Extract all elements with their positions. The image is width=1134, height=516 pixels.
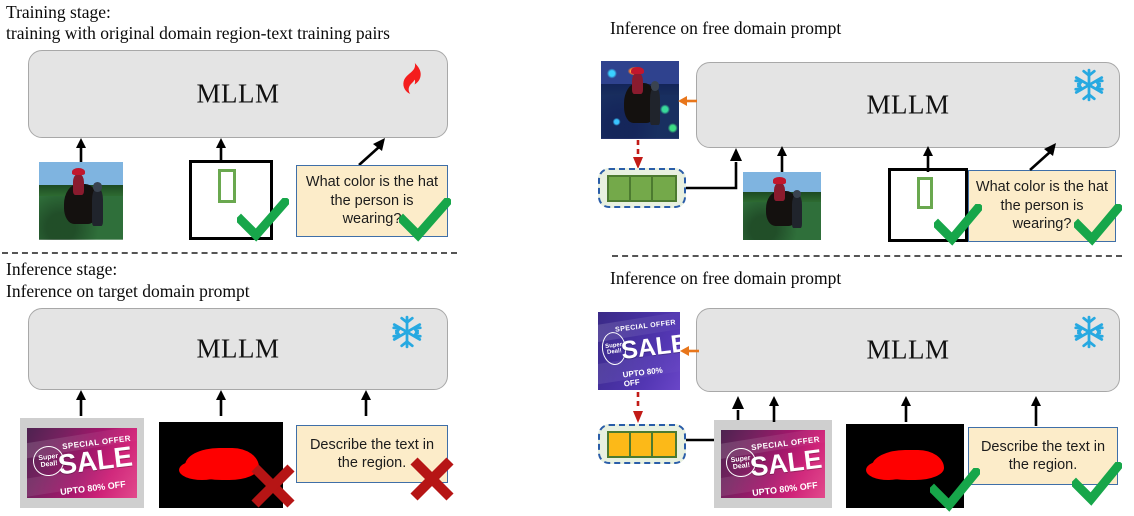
check-icon-prompt-training xyxy=(399,198,451,242)
region-highlight-rect xyxy=(917,177,933,209)
sale-poster-art-free: Super Deal! SPECIAL OFFER SALE UPTO 80% … xyxy=(721,430,825,499)
sale-headline-dark: SALE xyxy=(620,333,680,361)
free-domain-bottom-caption: Inference on free domain prompt xyxy=(610,268,841,289)
mllm-box-inference: MLLM xyxy=(28,308,448,390)
token-cell xyxy=(609,177,631,200)
arrow-image-to-model-free-bottom xyxy=(766,396,782,422)
flame-icon xyxy=(395,60,425,96)
mllm-label-free-bottom: MLLM xyxy=(697,335,1119,366)
sale-headline-free: SALE xyxy=(749,447,823,478)
check-icon-prompt-free-bottom xyxy=(1072,462,1122,508)
cross-icon-region-inference xyxy=(249,462,297,510)
arrow-model-to-heatmap xyxy=(676,94,698,108)
arrow-image-to-model-inference xyxy=(73,390,89,416)
training-caption-line2: training with original domain region-tex… xyxy=(6,23,390,44)
mllm-label-training: MLLM xyxy=(29,79,447,110)
divider-right xyxy=(612,255,1122,257)
region-highlight-rect xyxy=(218,169,236,203)
check-icon-region-training xyxy=(237,198,289,242)
arrow-region-to-model-free-bottom xyxy=(898,396,914,422)
arrow-prompt-to-model-free-top xyxy=(1026,143,1062,171)
snowflake-icon-inference xyxy=(390,315,424,349)
inference-caption-line1: Inference stage: xyxy=(6,259,117,280)
arrow-prompt-to-model-free-bottom xyxy=(1028,396,1044,426)
snowflake-icon-free-bottom xyxy=(1072,315,1106,349)
inference-caption-line2: Inference on target domain prompt xyxy=(6,281,250,302)
token-strip-green xyxy=(607,175,677,202)
handler-figure xyxy=(92,190,103,226)
input-image-sale-poster: Super Deal! SPECIAL OFFER SALE UPTO 80% … xyxy=(20,418,144,508)
arrow-heatmap-to-tokens xyxy=(631,140,645,170)
input-image-horse-training xyxy=(39,162,123,240)
training-caption-line1: Training stage: xyxy=(6,2,111,23)
token-cell xyxy=(653,433,675,456)
token-cell xyxy=(653,177,675,200)
snowflake-icon-free-top xyxy=(1072,68,1106,102)
arrow-region-to-model-inference xyxy=(213,390,229,416)
mllm-box-free-top: MLLM xyxy=(696,62,1120,148)
free-domain-top-caption: Inference on free domain prompt xyxy=(610,18,841,39)
input-image-horse-free-top xyxy=(743,172,821,240)
mllm-box-training: MLLM xyxy=(28,50,448,138)
mllm-box-free-bottom: MLLM xyxy=(696,308,1120,392)
token-cell xyxy=(609,433,631,456)
red-mask-blob-tail xyxy=(179,460,225,480)
rider-figure xyxy=(73,174,85,194)
arrow-heatmap-to-tokens-bottom xyxy=(631,392,645,424)
arrow-image-to-model-free-top xyxy=(774,146,790,172)
check-icon-prompt-free-top xyxy=(1074,204,1122,246)
token-strip-yellow xyxy=(607,431,677,458)
arrow-model-to-heatmap-bottom xyxy=(678,344,700,358)
arrow-region-to-model-free-top xyxy=(920,146,936,172)
attention-heatmap-image xyxy=(601,61,679,139)
attention-heatmap-sale-image: Super Deal! SPECIAL OFFER SALE UPTO 80% … xyxy=(598,312,680,390)
sale-poster-art: Super Deal! SPECIAL OFFER SALE UPTO 80% … xyxy=(27,428,136,498)
soft-prompt-tokens-yellow xyxy=(598,424,686,464)
red-mask-blob-tail xyxy=(866,460,910,480)
token-cell xyxy=(631,433,653,456)
arrow-prompt-to-model-inference xyxy=(358,390,374,416)
input-image-sale-poster-free: Super Deal! SPECIAL OFFER SALE UPTO 80% … xyxy=(714,420,832,508)
token-cell xyxy=(631,177,653,200)
mllm-label-inference: MLLM xyxy=(29,334,447,365)
check-icon-region-free-top xyxy=(934,204,982,246)
check-icon-region-free-bottom xyxy=(930,468,980,514)
mllm-label-free-top: MLLM xyxy=(697,90,1119,121)
divider-left xyxy=(2,252,457,254)
arrow-prompt-to-model-training xyxy=(355,138,391,166)
cross-icon-prompt-inference xyxy=(408,455,456,503)
soft-prompt-tokens-green xyxy=(598,168,686,208)
arrow-image-to-model-training xyxy=(73,138,89,164)
